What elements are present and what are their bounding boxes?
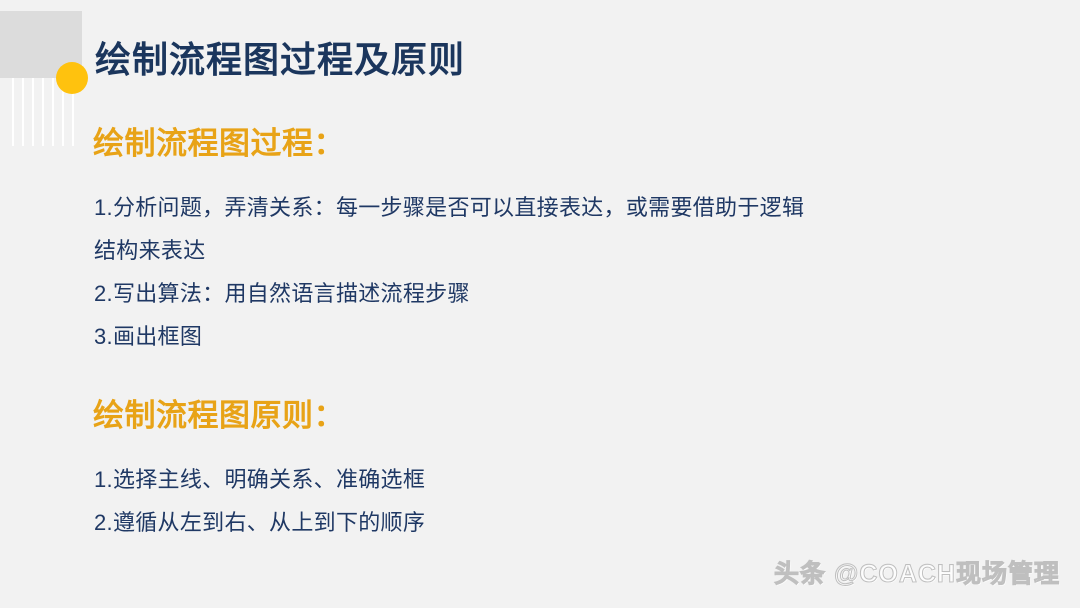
- body-line: 结构来表达: [94, 229, 994, 272]
- ornament-gray-block: [0, 11, 82, 78]
- ornament-stripe: [32, 78, 34, 146]
- section-body-process: 1.分析问题，弄清关系：每一步骤是否可以直接表达，或需要借助于逻辑 结构来表达 …: [94, 186, 994, 358]
- ornament-yellow-dot: [56, 62, 88, 94]
- ornament-stripe: [62, 78, 64, 146]
- ornament-stripe: [22, 78, 24, 146]
- ornament-stripe: [12, 78, 14, 146]
- section-process: 绘制流程图过程： 1.分析问题，弄清关系：每一步骤是否可以直接表达，或需要借助于…: [93, 124, 345, 164]
- ornament-stripe: [52, 78, 54, 146]
- body-line: 1.选择主线、明确关系、准确选框: [94, 458, 994, 501]
- ornament-stripe: [72, 78, 74, 146]
- ornament-stripe: [42, 78, 44, 146]
- slide-canvas: 绘制流程图过程及原则 绘制流程图过程： 1.分析问题，弄清关系：每一步骤是否可以…: [0, 0, 1080, 608]
- watermark: 头条 @COACH现场管理: [774, 554, 1060, 590]
- section-principle: 绘制流程图原则： 1.选择主线、明确关系、准确选框 2.遵循从左到右、从上到下的…: [93, 396, 345, 436]
- page-title: 绘制流程图过程及原则: [95, 37, 465, 82]
- section-body-principle: 1.选择主线、明确关系、准确选框 2.遵循从左到右、从上到下的顺序: [94, 458, 994, 544]
- section-heading-process: 绘制流程图过程：: [93, 124, 345, 164]
- body-line: 2.遵循从左到右、从上到下的顺序: [94, 501, 994, 544]
- section-heading-principle: 绘制流程图原则：: [93, 396, 345, 436]
- ornament-stripe-group: [12, 78, 74, 146]
- body-line: 1.分析问题，弄清关系：每一步骤是否可以直接表达，或需要借助于逻辑: [94, 186, 994, 229]
- body-line: 3.画出框图: [94, 315, 994, 358]
- body-line: 2.写出算法：用自然语言描述流程步骤: [94, 272, 994, 315]
